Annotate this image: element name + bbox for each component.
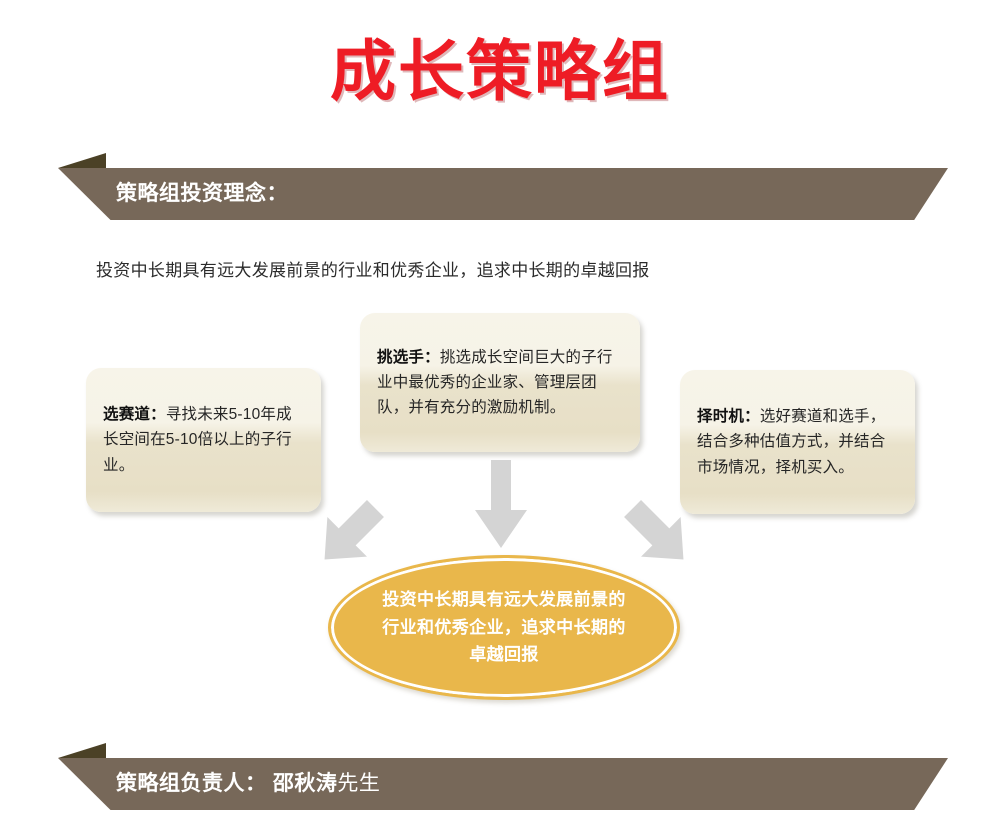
arrow-down-right-icon <box>310 494 390 574</box>
banner-team-leader: 策略组负责人： 邵秋涛先生 <box>58 758 948 810</box>
ribbon-fold-corner <box>58 743 106 758</box>
pillar-card-track-term: 选赛道： <box>103 406 166 423</box>
page-title: 成长策略组 <box>0 34 1000 110</box>
banner-leader-label-light: 先生 <box>337 772 380 795</box>
arrow-down-left-icon <box>618 494 698 574</box>
banner-investment-philosophy: 策略组投资理念： <box>58 168 948 220</box>
pillar-card-manager-term: 挑选手： <box>377 349 440 366</box>
pillar-card-manager-text: 挑选手：挑选成长空间巨大的子行业中最优秀的企业家、管理层团队，并有充分的激励机制… <box>377 345 623 420</box>
pillar-card-track: 选赛道：寻找未来5-10年成长空间在5-10倍以上的子行业。 <box>86 368 321 512</box>
arrow-down-icon <box>473 458 529 550</box>
banner-leader-label-bold: 策略组负责人： 邵秋涛 <box>116 772 337 795</box>
banner-leader-label: 策略组负责人： 邵秋涛先生 <box>116 758 380 810</box>
pillar-card-timing-term: 择时机： <box>697 408 760 425</box>
core-summary-text: 投资中长期具有远大发展前景的行业和优秀企业，追求中长期的卓越回报 <box>374 586 634 669</box>
pillar-card-manager: 挑选手：挑选成长空间巨大的子行业中最优秀的企业家、管理层团队，并有充分的激励机制… <box>360 313 640 452</box>
banner-philosophy-label-bold: 策略组投资理念： <box>116 182 288 205</box>
philosophy-intro-text: 投资中长期具有远大发展前景的行业和优秀企业，追求中长期的卓越回报 <box>96 256 650 281</box>
pillar-card-timing: 择时机：选好赛道和选手，结合多种估值方式，并结合市场情况，择机买入。 <box>680 370 915 514</box>
ribbon-fold-corner <box>58 153 106 168</box>
slide-canvas: 成长策略组 策略组投资理念： 投资中长期具有远大发展前景的行业和优秀企业，追求中… <box>0 0 1000 835</box>
core-summary-ellipse: 投资中长期具有远大发展前景的行业和优秀企业，追求中长期的卓越回报 <box>328 555 680 700</box>
pillar-card-timing-text: 择时机：选好赛道和选手，结合多种估值方式，并结合市场情况，择机买入。 <box>697 404 898 479</box>
banner-philosophy-label: 策略组投资理念： <box>116 168 288 220</box>
pillar-card-track-text: 选赛道：寻找未来5-10年成长空间在5-10倍以上的子行业。 <box>103 402 304 477</box>
